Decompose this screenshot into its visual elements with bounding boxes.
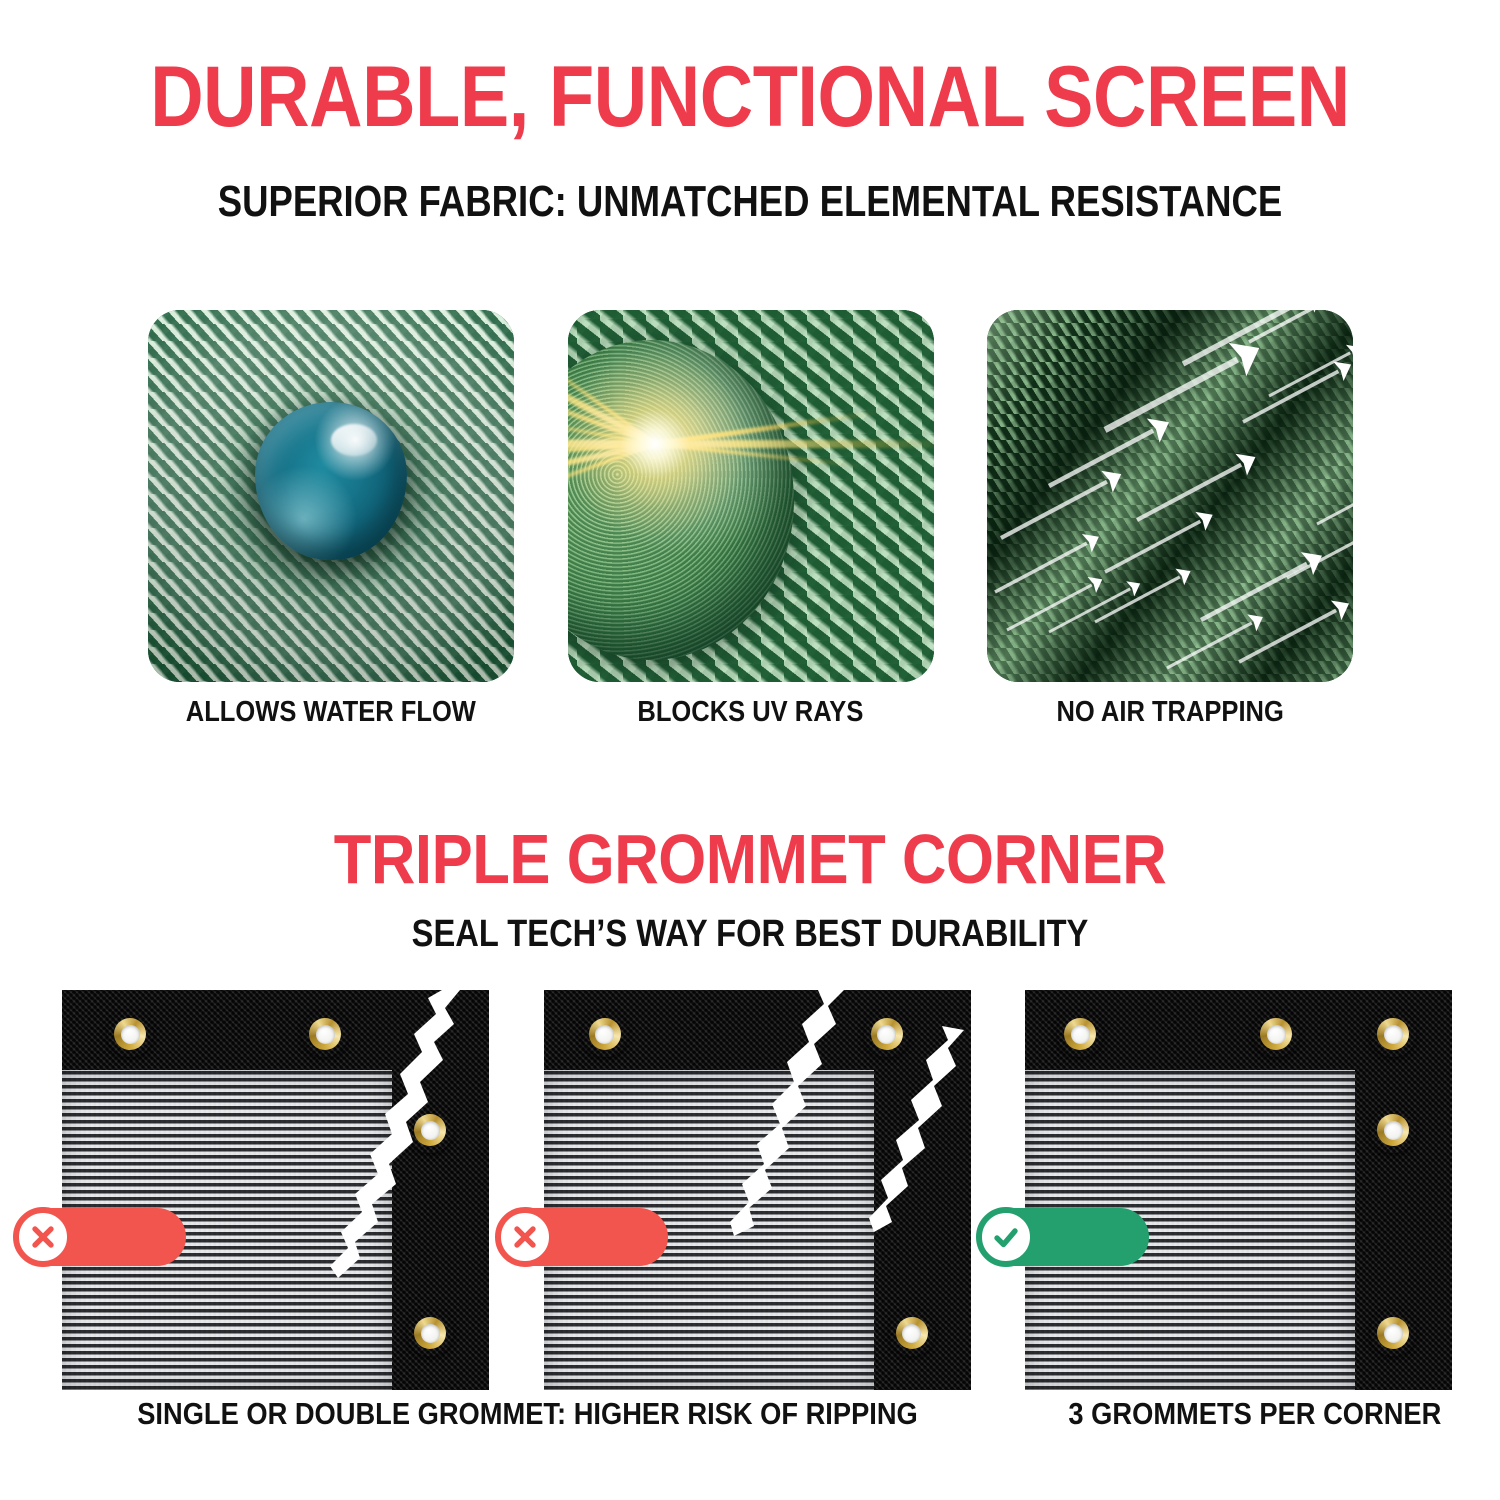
grommet-icon (1057, 1011, 1103, 1057)
grommet-icon (1370, 1310, 1416, 1356)
caption-water-flow: ALLOWS WATER FLOW (148, 698, 514, 727)
grommet-caption-row: SINGLE OR DOUBLE GROMMET: HIGHER RISK OF… (0, 1398, 1500, 1448)
caption-label: SINGLE OR DOUBLE GROMMET: HIGHER RISK OF… (137, 1398, 918, 1429)
grommet-icon (889, 1310, 935, 1356)
caption-three-grommets: 3 GROMMETS PER CORNER (1040, 1398, 1470, 1429)
page-subtitle-superior-fabric: SUPERIOR FABRIC: UNMATCHED ELEMENTAL RES… (128, 180, 1373, 224)
status-badge-bad (496, 1208, 668, 1266)
caption-higher-risk-of-ripping: SINGLE OR DOUBLE GROMMET: HIGHER RISK OF… (62, 1398, 992, 1429)
page-title-triple-grommet-corner: TRIPLE GROMMET CORNER (90, 824, 1410, 894)
feature-tile-uv-rays (568, 310, 934, 682)
caption-label: ALLOWS WATER FLOW (186, 698, 476, 727)
grommet-panel-row (62, 990, 1452, 1390)
grommet-icon (302, 1011, 348, 1057)
grommet-icon (582, 1011, 628, 1057)
feature-tile-water-flow (148, 310, 514, 682)
cross-icon (13, 1207, 73, 1267)
page-title-durable-functional-screen: DURABLE, FUNCTIONAL SCREEN (105, 54, 1395, 140)
caption-label: NO AIR TRAPPING (1056, 698, 1283, 727)
grommet-icon (1370, 1011, 1416, 1057)
feature-tile-row (148, 310, 1353, 682)
grommet-icon (1253, 1011, 1299, 1057)
caption-label: BLOCKS UV RAYS (638, 698, 864, 727)
cross-icon (495, 1207, 555, 1267)
water-droplet-icon (255, 402, 407, 560)
page-subtitle-seal-tech-way: SEAL TECH’S WAY FOR BEST DURABILITY (105, 915, 1395, 953)
grommet-icon (864, 1011, 910, 1057)
infographic-page: DURABLE, FUNCTIONAL SCREEN SUPERIOR FABR… (0, 0, 1500, 1500)
grommet-icon (1370, 1107, 1416, 1153)
airflow-arrows-icon (987, 310, 1353, 682)
caption-uv-rays: BLOCKS UV RAYS (568, 698, 934, 727)
grommet-icon (407, 1107, 453, 1153)
grommet-panel-single (62, 990, 489, 1390)
grommet-icon (407, 1310, 453, 1356)
grommet-panel-double (544, 990, 971, 1390)
feature-tile-air-flow (987, 310, 1353, 682)
sun-core-glow (568, 349, 751, 539)
status-badge-good (977, 1208, 1149, 1266)
grommet-panel-triple (1025, 990, 1452, 1390)
feature-caption-row: ALLOWS WATER FLOW BLOCKS UV RAYS NO AIR … (148, 698, 1353, 727)
caption-air-trapping: NO AIR TRAPPING (987, 698, 1353, 727)
status-badge-bad (14, 1208, 186, 1266)
caption-label: 3 GROMMETS PER CORNER (1069, 1398, 1442, 1429)
grommet-icon (107, 1011, 153, 1057)
check-icon (976, 1207, 1036, 1267)
